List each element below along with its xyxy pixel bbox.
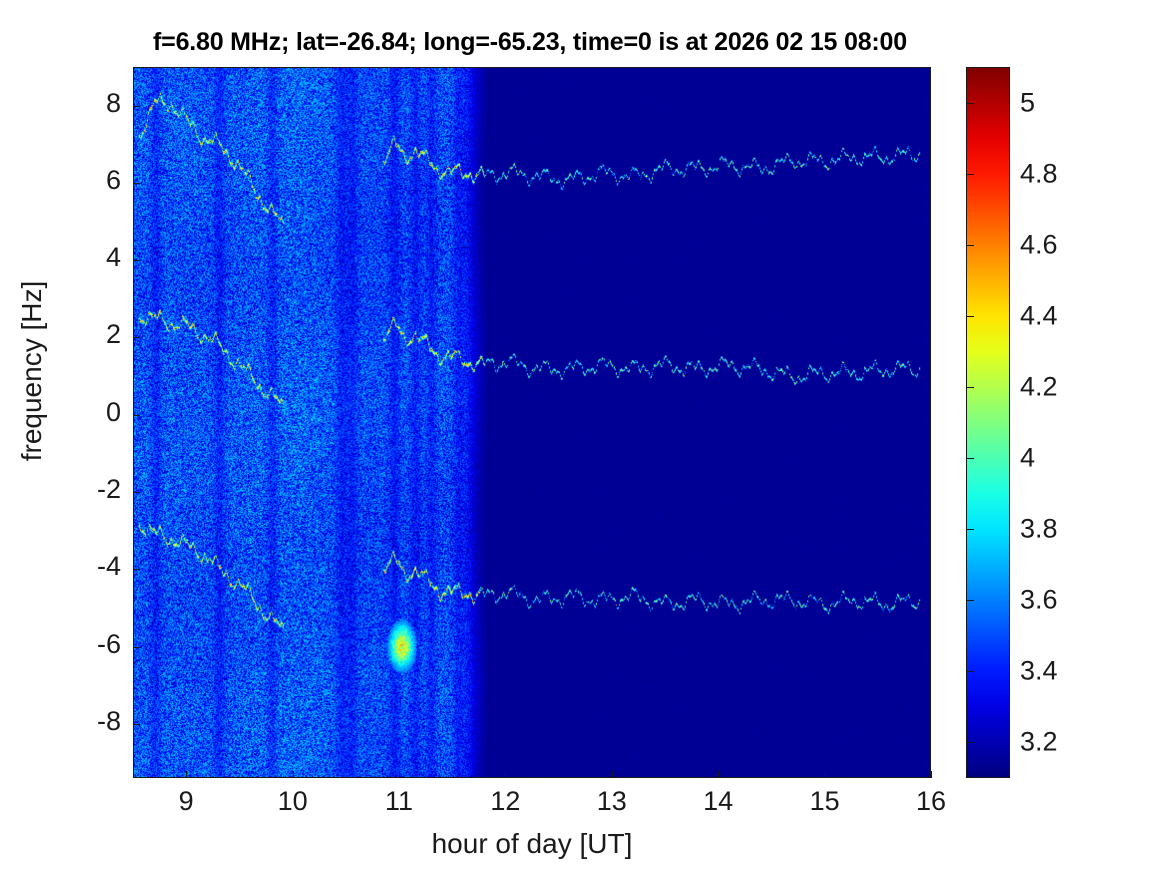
colorbar-tick-mark <box>967 245 974 246</box>
colorbar-tick-label: 3.2 <box>1020 727 1058 758</box>
x-tick-label: 9 <box>179 786 194 817</box>
x-tick-label: 15 <box>810 786 840 817</box>
colorbar-tick-mark <box>967 458 974 459</box>
colorbar-tick-mark <box>967 174 974 175</box>
y-tick-mark <box>133 260 140 261</box>
x-tick-label: 13 <box>597 786 627 817</box>
x-tick-label: 10 <box>278 786 308 817</box>
colorbar-tick-label: 5 <box>1020 87 1035 118</box>
y-tick-label: 0 <box>106 397 121 428</box>
colorbar-tick-mark <box>967 529 974 530</box>
colorbar-tick-mark <box>967 600 974 601</box>
colorbar-tick-mark <box>967 103 974 104</box>
y-axis-label: frequency [Hz] <box>16 151 48 591</box>
y-tick-mark <box>133 337 140 338</box>
spectrogram-figure: f=6.80 MHz; lat=-26.84; long=-65.23, tim… <box>0 0 1167 875</box>
colorbar-tick-label: 4.2 <box>1020 371 1058 402</box>
y-tick-label: -8 <box>97 706 121 737</box>
y-tick-label: 8 <box>106 88 121 119</box>
y-tick-label: 6 <box>106 165 121 196</box>
colorbar-tick-label: 3.4 <box>1020 656 1058 687</box>
y-tick-label: 4 <box>106 242 121 273</box>
y-tick-mark <box>133 647 140 648</box>
x-tick-mark <box>718 771 719 778</box>
colorbar-tick-mark <box>967 742 974 743</box>
x-tick-mark <box>612 771 613 778</box>
x-tick-label: 14 <box>703 786 733 817</box>
x-tick-mark <box>399 771 400 778</box>
y-tick-mark <box>133 724 140 725</box>
x-tick-label: 12 <box>490 786 520 817</box>
colorbar-tick-mark <box>967 316 974 317</box>
spectrogram-image <box>134 68 930 777</box>
y-tick-label: -6 <box>97 629 121 660</box>
x-tick-label: 16 <box>916 786 946 817</box>
colorbar-tick-mark <box>967 671 974 672</box>
y-tick-label: 2 <box>106 319 121 350</box>
y-tick-label: -2 <box>97 474 121 505</box>
x-axis-label: hour of day [UT] <box>133 828 931 860</box>
colorbar-tick-label: 3.6 <box>1020 585 1058 616</box>
colorbar-tick-mark <box>967 387 974 388</box>
colorbar-tick-label: 4.8 <box>1020 158 1058 189</box>
x-tick-mark <box>293 771 294 778</box>
x-tick-label: 11 <box>385 786 413 817</box>
x-tick-mark <box>186 771 187 778</box>
colorbar-tick-label: 4 <box>1020 443 1035 474</box>
figure-title: f=6.80 MHz; lat=-26.84; long=-65.23, tim… <box>0 28 1060 57</box>
x-tick-mark <box>505 771 506 778</box>
colorbar-tick-label: 4.6 <box>1020 229 1058 260</box>
y-tick-label: -4 <box>97 551 121 582</box>
x-tick-mark <box>931 771 932 778</box>
x-tick-mark <box>825 771 826 778</box>
y-tick-mark <box>133 492 140 493</box>
colorbar-tick-label: 4.4 <box>1020 300 1058 331</box>
spectrogram-axes[interactable] <box>133 67 931 778</box>
y-tick-mark <box>133 183 140 184</box>
y-tick-mark <box>133 106 140 107</box>
y-tick-mark <box>133 569 140 570</box>
y-tick-mark <box>133 415 140 416</box>
colorbar-tick-label: 3.8 <box>1020 514 1058 545</box>
